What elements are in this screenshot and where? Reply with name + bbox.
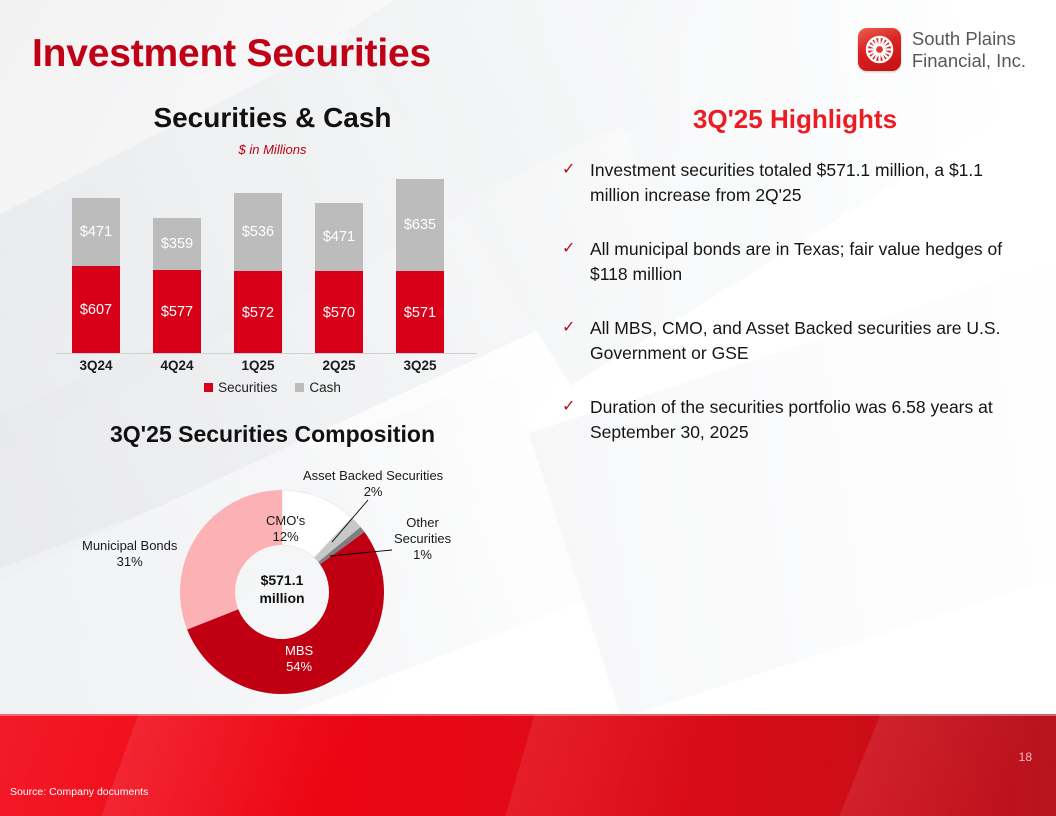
logo-wordmark: South Plains Financial, Inc. [912, 28, 1026, 70]
donut-label-name2-other-securities: Securities [394, 531, 451, 547]
bar-value-label-securities: $572 [242, 305, 274, 321]
bar-value-label-securities: $571 [404, 305, 436, 321]
highlight-bullet-text-3: All MBS, CMO, and Asset Backed securitie… [590, 316, 1014, 366]
donut-label-value-municipal-bonds: 31% [82, 554, 177, 570]
donut-label-asset-backed-securities: Asset Backed Securities2% [303, 468, 443, 500]
wagon-wheel-icon [858, 28, 901, 71]
bar-segment-cash: $471 [315, 203, 363, 271]
slide: Investment Securities [0, 0, 1056, 816]
donut-label-other-securities: OtherSecurities1% [394, 515, 451, 563]
source-note: Source: Company documents [10, 786, 148, 798]
bar-group-1q25: $536$572 [234, 193, 282, 354]
bar-segment-securities: $571 [396, 271, 444, 354]
legend-label-securities: Securities [218, 380, 277, 395]
legend-label-cash: Cash [309, 380, 341, 395]
bar-value-label-cash: $635 [404, 217, 436, 233]
legend-item-cash: Cash [295, 380, 341, 395]
donut-label-mbs: MBS54% [285, 643, 313, 675]
donut-label-value-other-securities: 1% [394, 547, 451, 563]
highlights-title: 3Q'25 Highlights [560, 104, 1030, 135]
checkmark-icon: ✓ [562, 395, 590, 419]
bar-segment-securities: $570 [315, 271, 363, 354]
bar-value-label-cash: $471 [323, 229, 355, 245]
company-logo: South Plains Financial, Inc. [858, 28, 1026, 71]
x-axis-label-3q25: 3Q25 [380, 358, 460, 373]
donut-label-name-mbs: MBS [285, 643, 313, 659]
bar-segment-securities: $572 [234, 271, 282, 354]
donut-label-cmo-s: CMO's12% [266, 513, 305, 545]
bar-segment-securities: $607 [72, 266, 120, 354]
footer-red-band [0, 714, 1056, 816]
x-axis-line [56, 353, 477, 354]
logo-line-2: Financial, Inc. [912, 50, 1026, 71]
bar-group-3q24: $471$607 [72, 198, 120, 354]
page-title: Investment Securities [32, 32, 431, 76]
logo-line-1: South Plains [912, 28, 1026, 49]
bar-group-3q25: $635$571 [396, 179, 444, 354]
donut-label-value-mbs: 54% [285, 659, 313, 675]
bar-group-4q24: $359$577 [153, 218, 201, 354]
bar-chart-legend: SecuritiesCash [0, 380, 545, 395]
donut-center-unit: million [232, 590, 332, 608]
x-axis-label-4q24: 4Q24 [137, 358, 217, 373]
legend-swatch-securities [204, 383, 213, 392]
highlight-bullet-1: ✓Investment securities totaled $571.1 mi… [562, 158, 1032, 208]
checkmark-icon: ✓ [562, 237, 590, 261]
highlight-bullet-text-1: Investment securities totaled $571.1 mil… [590, 158, 1014, 208]
checkmark-icon: ✓ [562, 316, 590, 340]
highlight-bullet-4: ✓Duration of the securities portfolio wa… [562, 395, 1032, 445]
donut-label-name-cmo-s: CMO's [266, 513, 305, 529]
bar-segment-cash: $471 [72, 198, 120, 266]
securities-and-cash-bar-chart: $471$607$359$577$536$572$471$570$635$571… [0, 170, 545, 400]
x-axis-label-2q25: 2Q25 [299, 358, 379, 373]
legend-swatch-cash [295, 383, 304, 392]
bar-value-label-cash: $536 [242, 224, 274, 240]
highlight-bullet-text-2: All municipal bonds are in Texas; fair v… [590, 237, 1014, 287]
bar-value-label-securities: $570 [323, 305, 355, 321]
donut-center-label: $571.1 million [232, 572, 332, 607]
donut-label-name-municipal-bonds: Municipal Bonds [82, 538, 177, 554]
bar-segment-securities: $577 [153, 270, 201, 354]
bar-value-label-cash: $471 [80, 224, 112, 240]
checkmark-icon: ✓ [562, 158, 590, 182]
donut-label-value-asset-backed-securities: 2% [303, 484, 443, 500]
bar-value-label-securities: $577 [161, 304, 193, 320]
bar-segment-cash: $635 [396, 179, 444, 271]
donut-slice-municipal-bonds [180, 490, 282, 630]
page-number: 18 [1019, 750, 1032, 764]
x-axis-label-3q24: 3Q24 [56, 358, 136, 373]
x-axis-label-1q25: 1Q25 [218, 358, 298, 373]
highlight-bullet-3: ✓All MBS, CMO, and Asset Backed securiti… [562, 316, 1032, 366]
bar-chart-title: Securities & Cash [0, 102, 545, 134]
donut-label-name-asset-backed-securities: Asset Backed Securities [303, 468, 443, 484]
donut-label-municipal-bonds: Municipal Bonds31% [82, 538, 177, 570]
bar-value-label-securities: $607 [80, 302, 112, 318]
highlight-bullet-2: ✓All municipal bonds are in Texas; fair … [562, 237, 1032, 287]
highlight-bullet-text-4: Duration of the securities portfolio was… [590, 395, 1014, 445]
highlights-bullet-list: ✓Investment securities totaled $571.1 mi… [562, 158, 1032, 474]
donut-label-value-cmo-s: 12% [266, 529, 305, 545]
bar-segment-cash: $536 [234, 193, 282, 271]
donut-center-value: $571.1 [232, 572, 332, 590]
bar-chart-subtitle: $ in Millions [0, 142, 545, 157]
bar-group-2q25: $471$570 [315, 203, 363, 354]
bar-value-label-cash: $359 [161, 236, 193, 252]
bar-plot-area: $471$607$359$577$536$572$471$570$635$571 [0, 170, 545, 354]
donut-label-name-other-securities: Other [394, 515, 451, 531]
legend-item-securities: Securities [204, 380, 277, 395]
x-axis-labels: 3Q244Q241Q252Q253Q25 [0, 358, 545, 380]
bar-segment-cash: $359 [153, 218, 201, 270]
